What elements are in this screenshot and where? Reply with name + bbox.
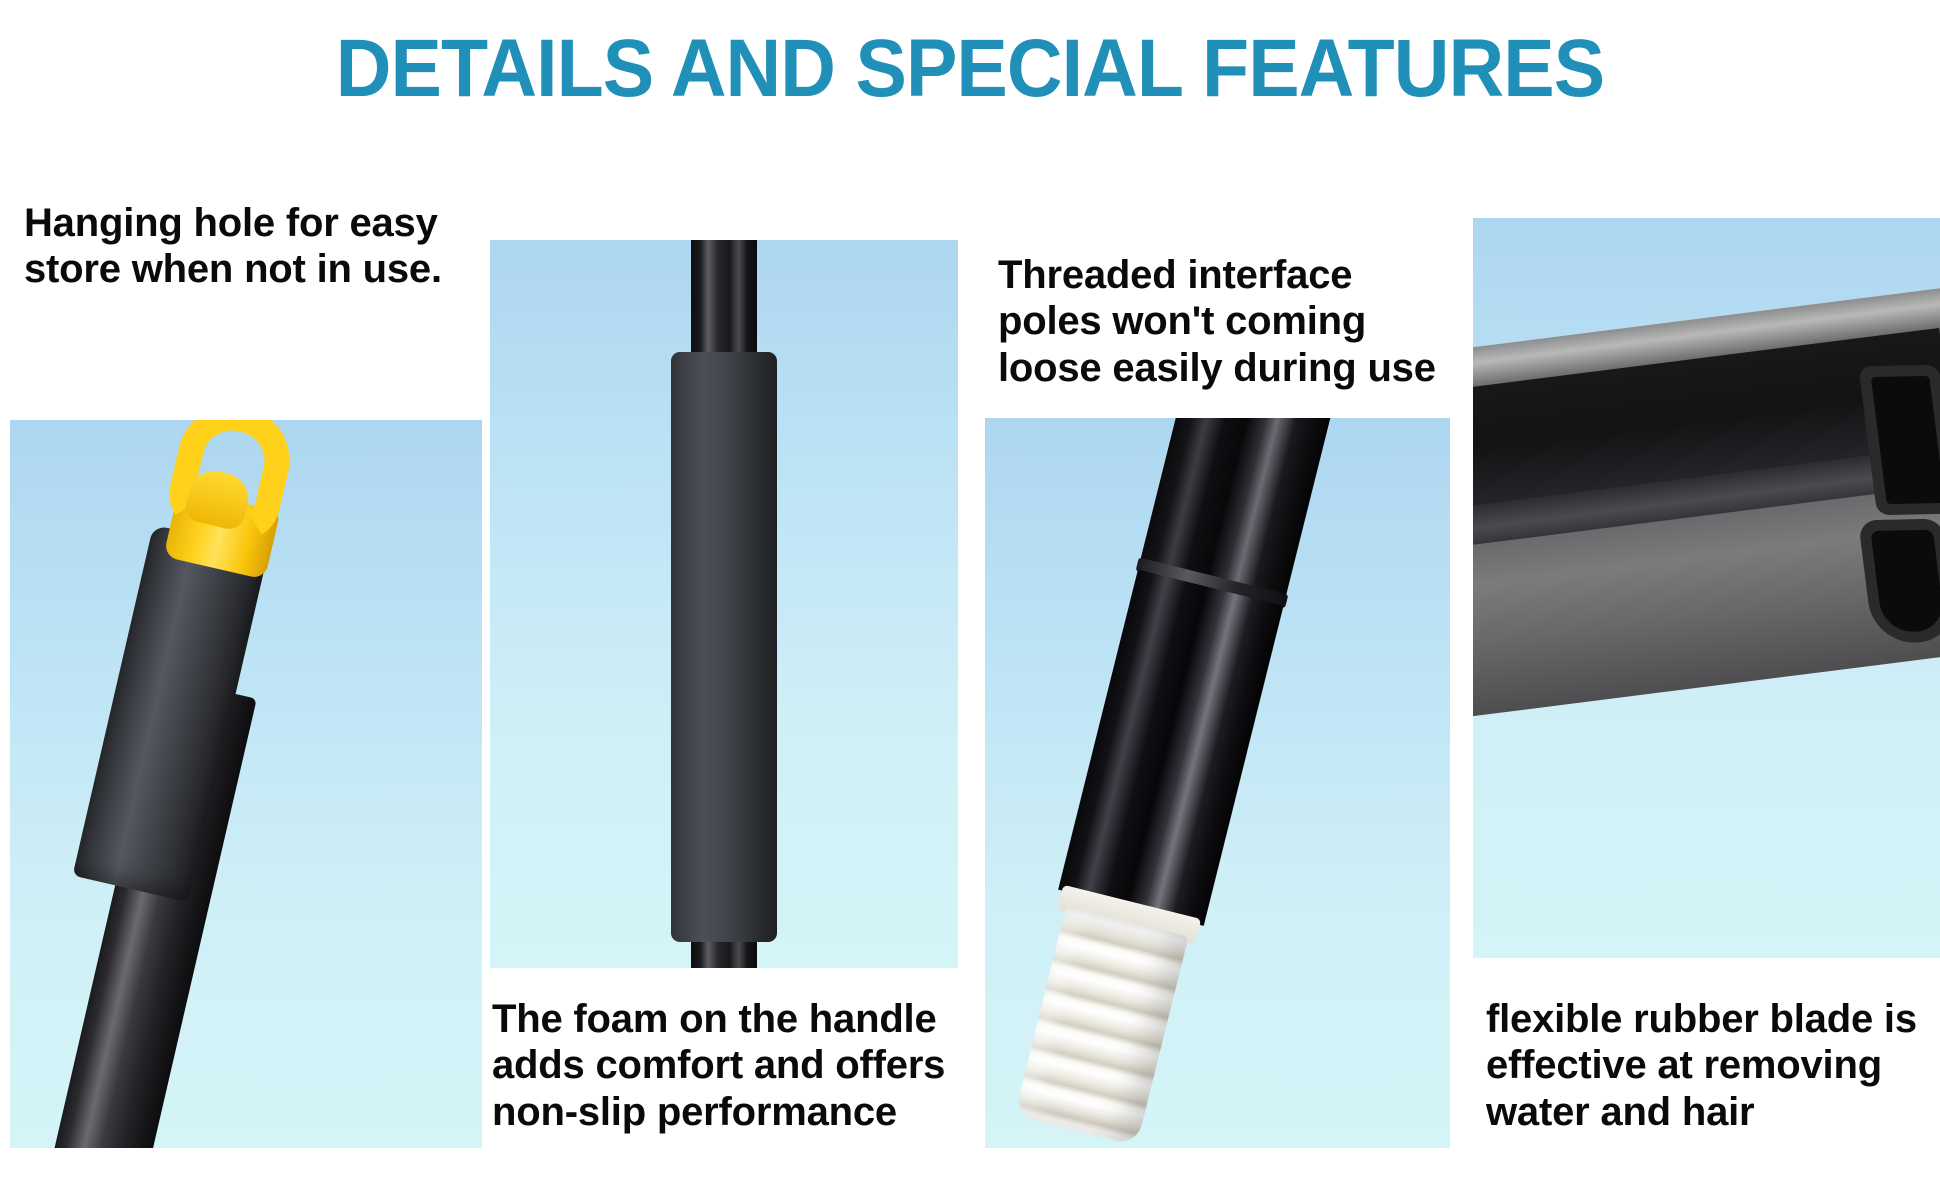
feature-image-foam-grip [490, 240, 958, 968]
feature-caption-threaded-interface: Threaded interface poles won't coming lo… [998, 252, 1448, 391]
feature-image-threaded-interface [985, 418, 1450, 1148]
feature-caption-hanging-hole: Hanging hole for easy store when not in … [24, 200, 464, 293]
feature-image-rubber-blade [1473, 218, 1940, 958]
foam-sleeve-shape [671, 352, 777, 942]
threaded-pole-group [1006, 418, 1335, 1134]
infographic-canvas: DETAILS AND SPECIAL FEATURES Hanging hol… [0, 0, 1940, 1200]
pole-lower-segment-shape [1058, 569, 1283, 925]
feature-caption-rubber-blade: flexible rubber blade is effective at re… [1486, 996, 1936, 1135]
page-title: DETAILS AND SPECIAL FEATURES [58, 26, 1882, 113]
feature-caption-foam-grip: The foam on the handle adds comfort and … [492, 996, 962, 1135]
feature-image-hanging-hole [10, 420, 482, 1148]
screw-thread-shape [1014, 906, 1189, 1146]
rubber-blade-group [1473, 218, 1940, 958]
